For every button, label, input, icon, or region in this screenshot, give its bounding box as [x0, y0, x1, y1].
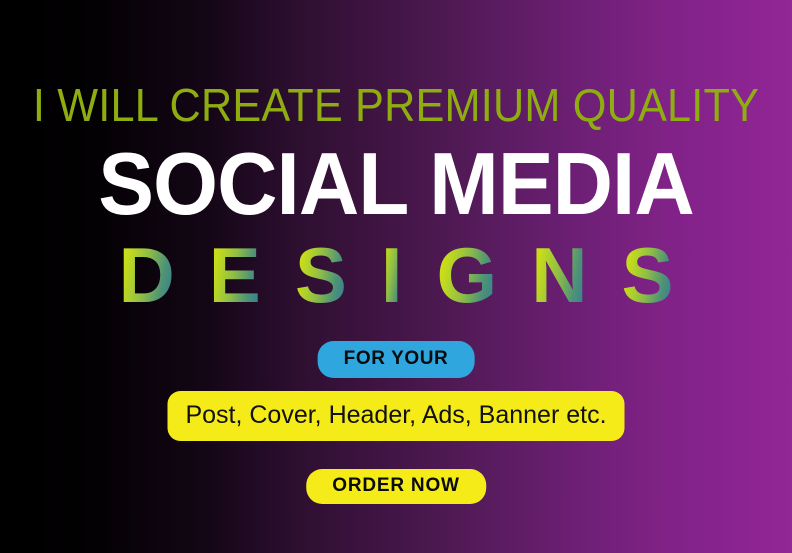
order-now-button[interactable]: ORDER NOW — [306, 469, 486, 504]
designs-letter: S — [295, 236, 347, 314]
designs-letter: G — [437, 236, 498, 314]
badge-for-your: FOR YOUR — [318, 341, 475, 378]
designs-letter: N — [531, 236, 587, 314]
headline-tagline: I WILL CREATE PREMIUM QUALITY — [24, 82, 768, 128]
promotional-poster: I WILL CREATE PREMIUM QUALITY SOCIAL MED… — [0, 0, 792, 553]
headline-primary: SOCIAL MEDIA — [20, 140, 772, 228]
designs-letter: S — [622, 236, 674, 314]
services-banner: Post, Cover, Header, Ads, Banner etc. — [168, 391, 625, 441]
designs-letter: I — [381, 236, 403, 314]
headline-designs: DESIGNS — [0, 236, 792, 314]
designs-letter: E — [209, 236, 261, 314]
designs-letter: D — [118, 236, 174, 314]
